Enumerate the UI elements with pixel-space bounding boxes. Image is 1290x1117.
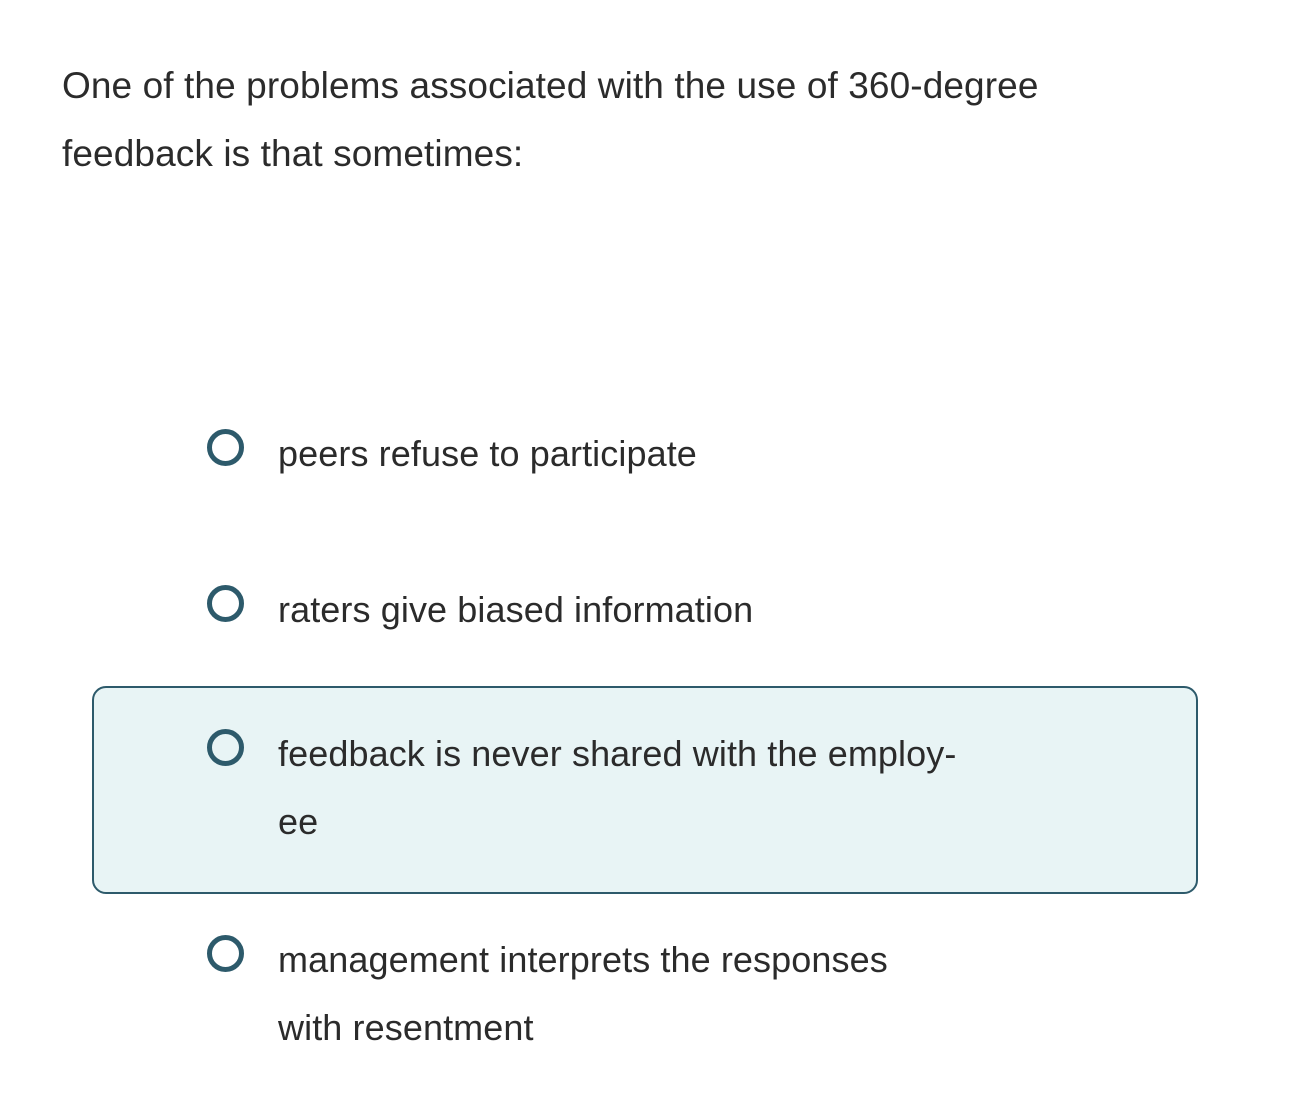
- answer-option-b[interactable]: raters give biased information: [0, 576, 1290, 644]
- question-page: One of the problems associated with the …: [0, 0, 1290, 1117]
- answer-option-c-line-1: feedback is never shared with the employ…: [278, 720, 1172, 788]
- answer-option-a-label: peers refuse to participate: [278, 420, 1290, 488]
- answer-option-c-selected[interactable]: feedback is never shared with the employ…: [92, 686, 1198, 894]
- answer-option-d-line-1: management interprets the responses: [278, 926, 1290, 994]
- radio-unchecked-icon[interactable]: [207, 729, 244, 766]
- answer-option-d[interactable]: management interprets the responses with…: [0, 926, 1290, 1062]
- radio-unchecked-icon[interactable]: [207, 429, 244, 466]
- answer-option-b-label: raters give biased information: [278, 576, 1290, 644]
- answer-option-a[interactable]: peers refuse to participate: [0, 420, 1290, 488]
- answer-options-list: peers refuse to participate raters give …: [0, 420, 1290, 1062]
- question-stem: One of the problems associated with the …: [62, 52, 1192, 188]
- answer-option-c-label: feedback is never shared with the employ…: [278, 720, 1172, 856]
- answer-option-a-line-1: peers refuse to participate: [278, 420, 1290, 488]
- spacer: [0, 644, 1290, 686]
- radio-unchecked-icon[interactable]: [207, 935, 244, 972]
- answer-option-b-line-1: raters give biased information: [278, 576, 1290, 644]
- answer-option-d-line-2: with resentment: [278, 994, 1290, 1062]
- answer-option-d-label: management interprets the responses with…: [278, 926, 1290, 1062]
- spacer: [0, 894, 1290, 926]
- spacer: [0, 488, 1290, 576]
- answer-option-c-line-2: ee: [278, 788, 1172, 856]
- radio-unchecked-icon[interactable]: [207, 585, 244, 622]
